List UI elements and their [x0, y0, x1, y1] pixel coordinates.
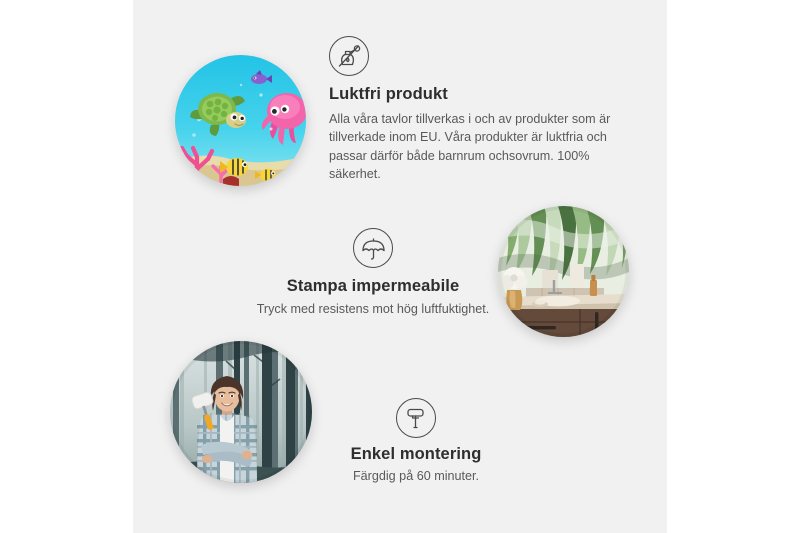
feature-odourless: Luktfri produkt Alla våra tavlor tillver… — [329, 36, 624, 183]
feature-body: Färgdig på 60 minuter. — [285, 467, 547, 485]
feature-title: Stampa impermeabile — [193, 277, 553, 296]
feature-body: Alla våra tavlor tillverkas i och av pro… — [329, 110, 624, 183]
umbrella-icon — [353, 228, 393, 268]
no-odour-spray-bottle-icon — [329, 36, 369, 76]
feature-title: Enkel montering — [285, 445, 547, 464]
feature-mounting: Enkel montering Färgdig på 60 minuter. — [285, 398, 547, 485]
feature-body: Tryck med resistens mot hög luftfuktighe… — [193, 300, 553, 318]
feature-title: Luktfri produkt — [329, 85, 624, 104]
paint-roller-icon — [396, 398, 436, 438]
feature-stage: Luktfri produkt Alla våra tavlor tillver… — [133, 0, 667, 533]
underwater-scene-photo — [175, 55, 306, 186]
product-feature-infographic: Luktfri produkt Alla våra tavlor tillver… — [0, 0, 800, 533]
feature-waterproof: Stampa impermeabile Tryck med resistens … — [193, 228, 553, 318]
